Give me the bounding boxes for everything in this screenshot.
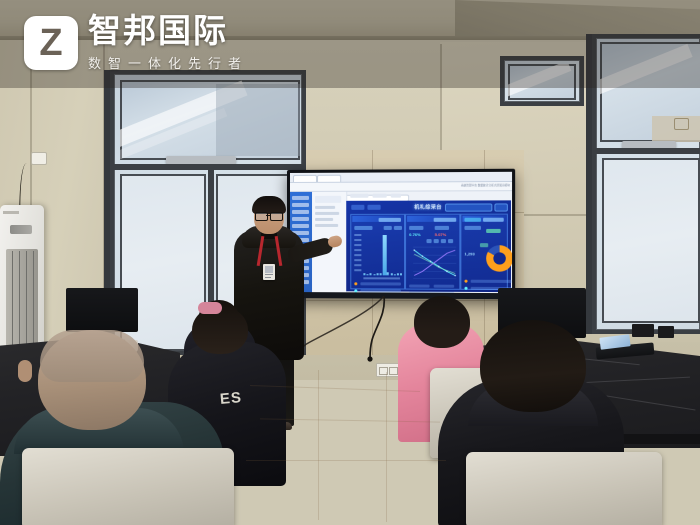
wall-sensor-box	[31, 152, 47, 165]
device-block	[658, 326, 674, 338]
hair-tie	[198, 302, 222, 314]
breadcrumb-chip[interactable]	[373, 194, 387, 198]
window-right-mullion-horizontal	[596, 148, 700, 154]
screen-surface[interactable]: 系统管理平台 数据统计分析大屏展示模块	[290, 172, 512, 293]
window-right	[592, 34, 700, 334]
legend-dot	[464, 287, 467, 290]
attendee-front-right-hair	[480, 320, 586, 412]
device-block	[632, 324, 654, 337]
panel-kpi-chip	[486, 229, 500, 233]
floor-plank-seam	[246, 460, 446, 461]
badge-text-line	[265, 277, 271, 278]
submenu-item[interactable]	[315, 212, 339, 215]
bar	[397, 273, 399, 276]
dashboard-tab[interactable]	[367, 204, 380, 209]
legend-dot	[464, 280, 467, 283]
data-row	[360, 282, 401, 285]
chart-legend-chip	[448, 239, 453, 243]
chart-legend-chip	[434, 239, 439, 243]
window-mid-right-pane	[508, 64, 576, 100]
window-right-transom-pane	[600, 42, 700, 142]
y-axis-tick	[354, 254, 361, 256]
panel-header-tag	[434, 217, 457, 221]
bar	[363, 273, 365, 275]
panel-kpi-chip	[464, 226, 481, 230]
y-axis-tick	[354, 249, 361, 251]
window-glare	[600, 44, 693, 98]
zhibang-logo-mark: Z	[24, 16, 78, 70]
dashboard-tab[interactable]	[351, 204, 364, 209]
dashboard-title: 机礼综采台	[414, 204, 442, 211]
breadcrumb-chip[interactable]	[391, 194, 401, 198]
badge-text-line	[265, 274, 273, 275]
badge-photo	[265, 266, 273, 273]
chart-legend-chip	[426, 239, 431, 243]
dashboard-update-pill	[445, 203, 492, 211]
y-axis-tick	[354, 269, 361, 271]
submenu-item[interactable]	[315, 206, 335, 209]
bar	[400, 273, 402, 275]
bar	[376, 273, 378, 276]
eyeglasses-bridge	[266, 215, 270, 216]
panel-line: 0.76% 5.07%	[405, 214, 460, 290]
wall-mounted-presentation-screen[interactable]: 系统管理平台 数据统计分析大屏展示模块	[287, 169, 515, 300]
panel-header-tag	[379, 217, 401, 221]
bar-chart-plot	[363, 233, 402, 275]
browser-tab[interactable]	[293, 174, 317, 181]
company-name: 智邦国际	[88, 14, 248, 49]
floor-plank-seam	[318, 370, 319, 520]
floor-plank-seam	[386, 372, 387, 522]
chart-legend-chip	[441, 239, 446, 243]
data-row	[409, 285, 429, 288]
browser-tab[interactable]	[317, 174, 341, 181]
line-chart-plot	[409, 245, 456, 282]
bar	[394, 274, 396, 276]
chair-front-left	[22, 448, 234, 525]
bar	[390, 273, 392, 275]
window-right-lower-pane	[602, 158, 700, 323]
panel-donut: 1,293 83%	[460, 214, 508, 290]
brand-logo: Z 智邦国际 数智一体化先行者	[24, 14, 248, 72]
desktop-monitor-left	[66, 288, 138, 332]
kpi-value-primary: 0.76%	[409, 232, 421, 237]
logo-letter-z: Z	[39, 24, 62, 62]
company-tagline: 数智一体化先行者	[88, 53, 248, 72]
y-axis-tick	[354, 259, 361, 261]
ac-vent-top	[10, 225, 32, 234]
bar	[373, 274, 375, 276]
outlet-socket	[389, 367, 398, 375]
eyeglasses-left-lens	[255, 212, 268, 221]
kpi-value-left: 1,293	[464, 251, 474, 256]
panel-header	[352, 216, 403, 222]
panel-header-tag	[483, 217, 504, 221]
y-axis-tick	[354, 234, 361, 236]
panel-kpi-chip	[409, 226, 423, 230]
window-object-frame	[674, 118, 689, 130]
dashboard-fullscreen-button[interactable]	[494, 203, 507, 211]
screen-header-note: 系统管理平台 数据统计分析大屏展示模块	[461, 183, 510, 187]
panel-header	[407, 216, 458, 222]
window-left-transom-pane	[120, 80, 300, 160]
bar	[367, 274, 369, 275]
eyeglasses-right-lens	[270, 212, 283, 221]
brand-text: 智邦国际 数智一体化先行者	[88, 14, 248, 72]
y-axis-tick	[354, 244, 361, 246]
legend-dot	[354, 282, 357, 285]
bar	[387, 272, 389, 275]
attendee-front-left-hair	[40, 330, 144, 382]
donut-center-hole	[493, 252, 505, 264]
window-outer-building	[216, 84, 300, 156]
window-mid-right	[500, 56, 584, 106]
ac-brand-label	[3, 211, 19, 214]
kpi-value-secondary: 5.07%	[435, 232, 447, 237]
bar	[380, 273, 382, 275]
id-badge	[263, 264, 275, 280]
submenu-group[interactable]	[315, 196, 341, 203]
panel-kpi-chip	[384, 226, 392, 230]
panel-kpi-chip	[394, 226, 402, 230]
panel-kpi-chip	[435, 226, 449, 230]
y-axis-tick	[354, 264, 361, 266]
chair-front-right	[466, 452, 662, 525]
donut-connector	[480, 243, 488, 247]
bar-highlight	[383, 235, 386, 275]
wall-power-outlet[interactable]	[376, 363, 400, 377]
meeting-room-photo: 系统管理平台 数据统计分析大屏展示模块	[0, 0, 700, 525]
submenu-item[interactable]	[315, 224, 338, 227]
panel-header	[462, 216, 505, 222]
panel-header-tag	[464, 217, 481, 221]
panel-bar	[350, 214, 405, 290]
window-left-stay-bar	[166, 156, 236, 164]
dashboard-canvas: 机礼综采台	[346, 200, 511, 292]
window-glare	[508, 64, 571, 98]
submenu-item[interactable]	[315, 218, 333, 221]
y-axis-tick	[354, 239, 361, 241]
breadcrumb-chip[interactable]	[350, 194, 368, 198]
bar	[370, 273, 372, 275]
x-axis-labels	[363, 277, 400, 279]
data-row	[434, 285, 455, 288]
data-row	[471, 280, 512, 283]
attendee-front-left-ear	[18, 360, 32, 382]
panel-kpi-chip	[354, 226, 372, 230]
